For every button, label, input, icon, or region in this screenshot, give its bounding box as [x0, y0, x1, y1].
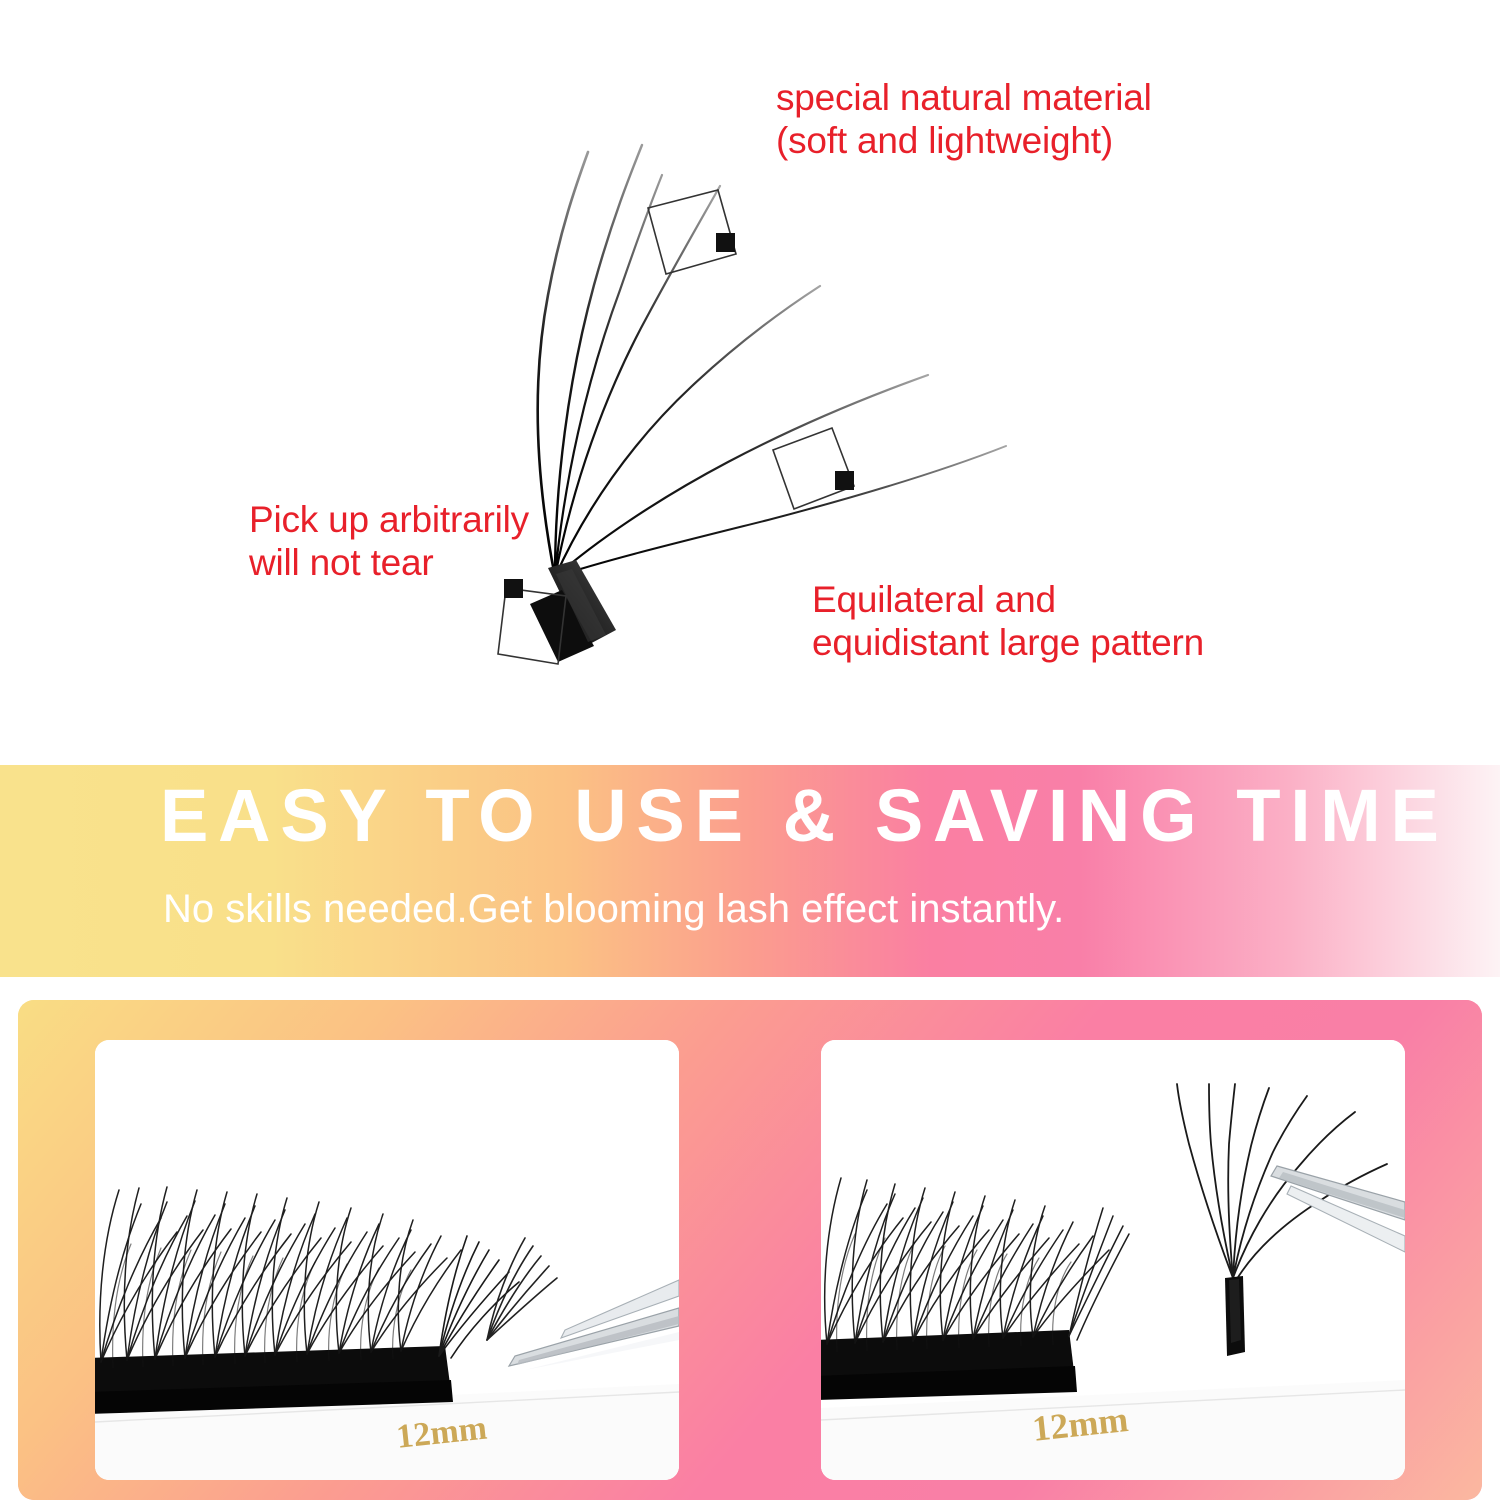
marker-box-upper [648, 190, 736, 274]
promo-banner-section: EASY TO USE & SAVING TIME No skills need… [0, 765, 1500, 977]
feature-diagram-section: special natural material (soft and light… [0, 0, 1500, 765]
photo-showcase-section: 12mm [0, 977, 1500, 1500]
photo-panel-single-fan-lifted[interactable]: 12mm [821, 1040, 1405, 1480]
callout-special-natural-material: special natural material (soft and light… [776, 76, 1152, 163]
callout-equilateral-equidistant: Equilateral and equidistant large patter… [812, 578, 1204, 665]
marker-box-lower-right [773, 428, 854, 509]
banner-headline: EASY TO USE & SAVING TIME [160, 779, 1336, 853]
photo-panel-lash-tray-with-tweezers[interactable]: 12mm [95, 1040, 679, 1480]
photo-frame: 12mm [18, 1000, 1482, 1500]
callout-pick-up-arbitrarily: Pick up arbitrarily will not tear [249, 498, 529, 585]
banner-subtitle: No skills needed.Get blooming lash effec… [163, 887, 1064, 932]
